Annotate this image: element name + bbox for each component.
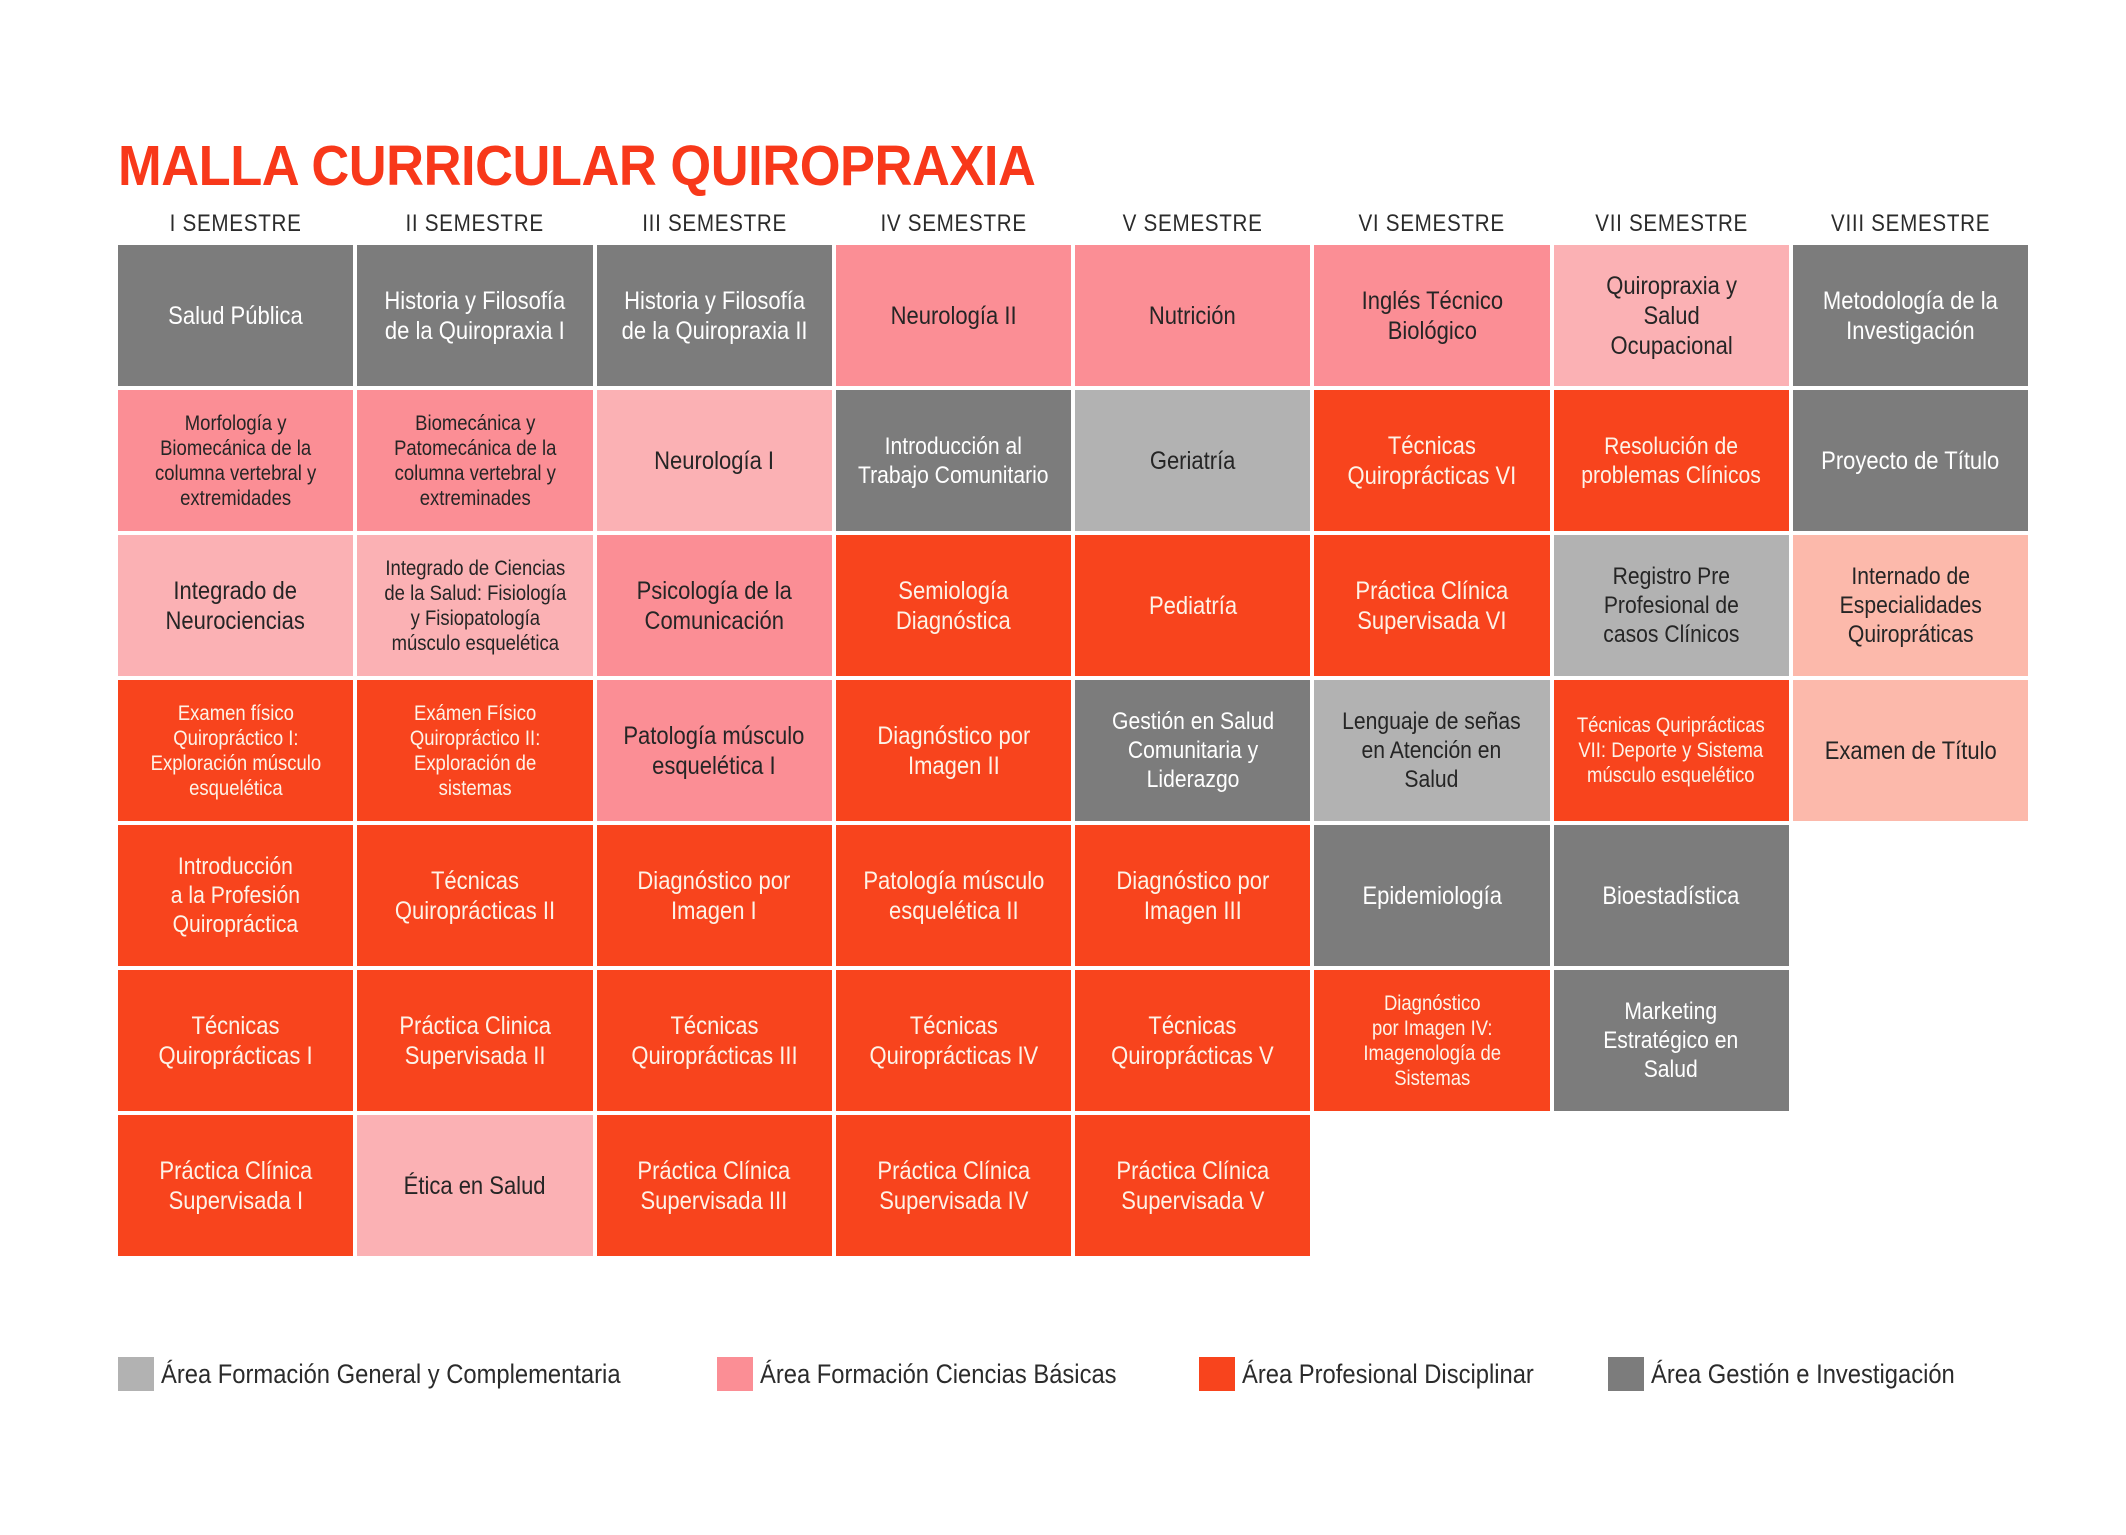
page-title: MALLA CURRICULAR QUIROPRAXIA: [118, 135, 1035, 197]
legend-label: Área Formación General y Complementaria: [161, 1359, 621, 1390]
course-cell[interactable]: Salud Pública: [118, 245, 353, 386]
semester-header: II SEMESTRE: [374, 210, 576, 238]
course-cell[interactable]: Bioestadística: [1554, 825, 1789, 966]
legend-label: Área Formación Ciencias Básicas: [760, 1359, 1117, 1390]
course-label: Patología músculo esquelética I: [624, 721, 805, 781]
course-cell[interactable]: Metodología de la Investigación: [1793, 245, 2028, 386]
course-label: Diagnóstico por Imagen III: [1116, 866, 1269, 926]
course-cell[interactable]: Ética en Salud: [357, 1115, 592, 1256]
course-cell[interactable]: Geriatría: [1075, 390, 1310, 531]
course-cell[interactable]: Práctica Clínica Supervisada VI: [1314, 535, 1549, 676]
course-cell-empty: [1554, 1115, 1789, 1256]
legend-item: Área Gestión e Investigación: [1608, 1357, 1996, 1391]
course-label: Pediatría: [1149, 591, 1237, 621]
course-cell[interactable]: Historia y Filosofía de la Quiropraxia I: [357, 245, 592, 386]
course-label: Inglés Técnico Biológico: [1361, 286, 1502, 346]
course-label: Resolución de problemas Clínicos: [1581, 432, 1761, 490]
course-cell[interactable]: Práctica Clínica Supervisada III: [597, 1115, 832, 1256]
course-row: Morfología y Biomecánica de la columna v…: [118, 390, 2028, 531]
course-cell[interactable]: Internado de Especialidades Quiroprática…: [1793, 535, 2028, 676]
course-cell[interactable]: Práctica Clínica Supervisada I: [118, 1115, 353, 1256]
course-label: Bioestadística: [1603, 881, 1740, 911]
course-cell[interactable]: Técnicas Quiroprácticas II: [357, 825, 592, 966]
course-cell[interactable]: Introducción al Trabajo Comunitario: [836, 390, 1071, 531]
course-label: Neurología I: [654, 446, 774, 476]
course-label: Quiropraxia y Salud Ocupacional: [1575, 271, 1768, 361]
course-label: Diagnóstico por Imagen II: [877, 721, 1030, 781]
legend-label: Área Gestión e Investigación: [1651, 1359, 1955, 1390]
course-label: Ética en Salud: [404, 1171, 546, 1201]
course-cell[interactable]: Práctica Clinica Supervisada II: [357, 970, 592, 1111]
course-label: Registro Pre Profesional de casos Clínic…: [1603, 562, 1739, 649]
course-row: Examen físico Quiropráctico I: Exploraci…: [118, 680, 2028, 821]
course-cell[interactable]: Técnicas Quiroprácticas VI: [1314, 390, 1549, 531]
course-label: Epidemiología: [1362, 881, 1501, 911]
course-cell[interactable]: Técnicas Quriprácticas VII: Deporte y Si…: [1554, 680, 1789, 821]
course-cell[interactable]: Morfología y Biomecánica de la columna v…: [118, 390, 353, 531]
course-cell[interactable]: Técnicas Quiroprácticas III: [597, 970, 832, 1111]
course-cell[interactable]: Técnicas Quiroprácticas IV: [836, 970, 1071, 1111]
course-label: Práctica Clinica Supervisada II: [399, 1011, 551, 1071]
course-rows: Salud PúblicaHistoria y Filosofía de la …: [118, 245, 2028, 1256]
semester-header: VIII SEMESTRE: [1809, 210, 2011, 238]
course-cell[interactable]: Práctica Clínica Supervisada IV: [836, 1115, 1071, 1256]
semester-header: V SEMESTRE: [1091, 210, 1293, 238]
course-label: Historia y Filosofía de la Quiropraxia I: [384, 286, 565, 346]
course-cell[interactable]: Diagnóstico por Imagen IV: Imagenología …: [1314, 970, 1549, 1111]
curriculum-page: MALLA CURRICULAR QUIROPRAXIA I SEMESTREI…: [0, 0, 2126, 1535]
legend-label: Área Profesional Disciplinar: [1242, 1359, 1534, 1390]
course-label: Gestión en Salud Comunitaria y Liderazgo: [1112, 707, 1274, 794]
course-label: Práctica Clínica Supervisada IV: [877, 1156, 1030, 1216]
course-cell[interactable]: Técnicas Quiroprácticas V: [1075, 970, 1310, 1111]
course-cell[interactable]: Patología músculo esquelética I: [597, 680, 832, 821]
course-label: Diagnóstico por Imagen IV: Imagenología …: [1363, 991, 1501, 1091]
course-label: Exámen Físico Quiropráctico II: Explorac…: [410, 701, 540, 801]
course-cell[interactable]: Integrado de Neurociencias: [118, 535, 353, 676]
course-cell[interactable]: Nutrición: [1075, 245, 1310, 386]
course-cell[interactable]: Proyecto de Título: [1793, 390, 2028, 531]
course-label: Integrado de Ciencias de la Salud: Fisio…: [384, 556, 566, 656]
course-cell[interactable]: Neurología I: [597, 390, 832, 531]
course-label: Práctica Clínica Supervisada V: [1116, 1156, 1269, 1216]
semester-header: I SEMESTRE: [134, 210, 336, 238]
course-cell[interactable]: Epidemiología: [1314, 825, 1549, 966]
course-row: Salud PúblicaHistoria y Filosofía de la …: [118, 245, 2028, 386]
course-cell-empty: [1793, 825, 2028, 966]
course-cell[interactable]: Práctica Clínica Supervisada V: [1075, 1115, 1310, 1256]
semester-header: VII SEMESTRE: [1570, 210, 1772, 238]
course-label: Nutrición: [1149, 301, 1236, 331]
course-label: Introducción a la Profesión Quiropráctic…: [171, 852, 300, 939]
course-label: Biomecánica y Patomecánica de la columna…: [394, 411, 556, 511]
course-cell[interactable]: Historia y Filosofía de la Quiropraxia I…: [597, 245, 832, 386]
course-label: Diagnóstico por Imagen I: [638, 866, 791, 926]
course-label: Técnicas Quiroprácticas II: [395, 866, 555, 926]
course-row: Práctica Clínica Supervisada IÉtica en S…: [118, 1115, 2028, 1256]
course-cell-empty: [1314, 1115, 1549, 1256]
course-row: Técnicas Quiroprácticas IPráctica Clinic…: [118, 970, 2028, 1111]
course-label: Integrado de Neurociencias: [166, 576, 305, 636]
semester-header: VI SEMESTRE: [1331, 210, 1533, 238]
course-label: Técnicas Quiroprácticas V: [1111, 1011, 1274, 1071]
course-cell[interactable]: Resolución de problemas Clínicos: [1554, 390, 1789, 531]
course-cell-empty: [1793, 1115, 2028, 1256]
course-label: Examen de Título: [1824, 736, 1996, 766]
course-label: Práctica Clínica Supervisada I: [159, 1156, 312, 1216]
course-label: Lenguaje de señas en Atención en Salud: [1343, 707, 1522, 794]
course-label: Geriatría: [1150, 446, 1236, 476]
course-cell[interactable]: Diagnóstico por Imagen II: [836, 680, 1071, 821]
course-cell[interactable]: Gestión en Salud Comunitaria y Liderazgo: [1075, 680, 1310, 821]
course-label: Semiología Diagnóstica: [896, 576, 1011, 636]
course-cell[interactable]: Diagnóstico por Imagen III: [1075, 825, 1310, 966]
curriculum-grid: I SEMESTREII SEMESTREIII SEMESTREIV SEME…: [118, 210, 2028, 1256]
course-cell[interactable]: Lenguaje de señas en Atención en Salud: [1314, 680, 1549, 821]
course-cell[interactable]: Inglés Técnico Biológico: [1314, 245, 1549, 386]
legend-item: Área Formación Ciencias Básicas: [717, 1357, 1165, 1391]
course-label: Examen físico Quiropráctico I: Exploraci…: [150, 701, 321, 801]
course-cell[interactable]: Registro Pre Profesional de casos Clínic…: [1554, 535, 1789, 676]
course-label: Marketing Estratégico en Salud: [1604, 997, 1739, 1084]
course-cell-empty: [1793, 970, 2028, 1111]
course-label: Salud Pública: [168, 301, 303, 331]
legend-item: Área Profesional Disciplinar: [1199, 1357, 1574, 1391]
course-label: Psicología de la Comunicación: [636, 576, 791, 636]
course-cell[interactable]: Patología músculo esquelética II: [836, 825, 1071, 966]
course-cell[interactable]: Pediatría: [1075, 535, 1310, 676]
legend-swatch-gestion: [1608, 1357, 1644, 1391]
course-cell[interactable]: Neurología II: [836, 245, 1071, 386]
course-label: Patología músculo esquelética II: [863, 866, 1044, 926]
course-label: Internado de Especialidades Quiroprática…: [1839, 562, 1981, 649]
course-label: Técnicas Quiroprácticas III: [631, 1011, 797, 1071]
course-label: Historia y Filosofía de la Quiropraxia I…: [621, 286, 807, 346]
course-label: Práctica Clínica Supervisada III: [638, 1156, 791, 1216]
course-cell[interactable]: Examen de Título: [1793, 680, 2028, 821]
course-label: Técnicas Quiroprácticas IV: [869, 1011, 1038, 1071]
course-cell[interactable]: Semiología Diagnóstica: [836, 535, 1071, 676]
course-cell[interactable]: Diagnóstico por Imagen I: [597, 825, 832, 966]
course-cell[interactable]: Integrado de Ciencias de la Salud: Fisio…: [357, 535, 592, 676]
course-label: Práctica Clínica Supervisada VI: [1355, 576, 1508, 636]
course-label: Introducción al Trabajo Comunitario: [858, 432, 1049, 490]
course-row: Introducción a la Profesión Quiropráctic…: [118, 825, 2028, 966]
course-label: Morfología y Biomecánica de la columna v…: [155, 411, 316, 511]
legend-swatch-basicas: [717, 1357, 753, 1391]
course-label: Técnicas Quiroprácticas VI: [1348, 431, 1517, 491]
course-label: Neurología II: [890, 301, 1016, 331]
course-cell[interactable]: Exámen Físico Quiropráctico II: Explorac…: [357, 680, 592, 821]
semester-header: IV SEMESTRE: [852, 210, 1054, 238]
semester-header-row: I SEMESTREII SEMESTREIII SEMESTREIV SEME…: [118, 210, 2028, 238]
course-cell[interactable]: Examen físico Quiropráctico I: Exploraci…: [118, 680, 353, 821]
course-cell[interactable]: Quiropraxia y Salud Ocupacional: [1554, 245, 1789, 386]
legend: Área Formación General y ComplementariaÁ…: [118, 1357, 2030, 1391]
course-label: Proyecto de Título: [1821, 446, 1999, 476]
legend-item: Área Formación General y Complementaria: [118, 1357, 683, 1391]
course-cell[interactable]: Marketing Estratégico en Salud: [1554, 970, 1789, 1111]
legend-swatch-profesional: [1199, 1357, 1235, 1391]
semester-header: III SEMESTRE: [613, 210, 815, 238]
course-cell[interactable]: Introducción a la Profesión Quiropráctic…: [118, 825, 353, 966]
course-label: Técnicas Quriprácticas VII: Deporte y Si…: [1577, 713, 1765, 788]
course-label: Metodología de la Investigación: [1823, 286, 1998, 346]
legend-swatch-general: [118, 1357, 154, 1391]
course-cell[interactable]: Psicología de la Comunicación: [597, 535, 832, 676]
course-cell[interactable]: Biomecánica y Patomecánica de la columna…: [357, 390, 592, 531]
course-label: Técnicas Quiroprácticas I: [159, 1011, 313, 1071]
course-row: Integrado de NeurocienciasIntegrado de C…: [118, 535, 2028, 676]
course-cell[interactable]: Técnicas Quiroprácticas I: [118, 970, 353, 1111]
